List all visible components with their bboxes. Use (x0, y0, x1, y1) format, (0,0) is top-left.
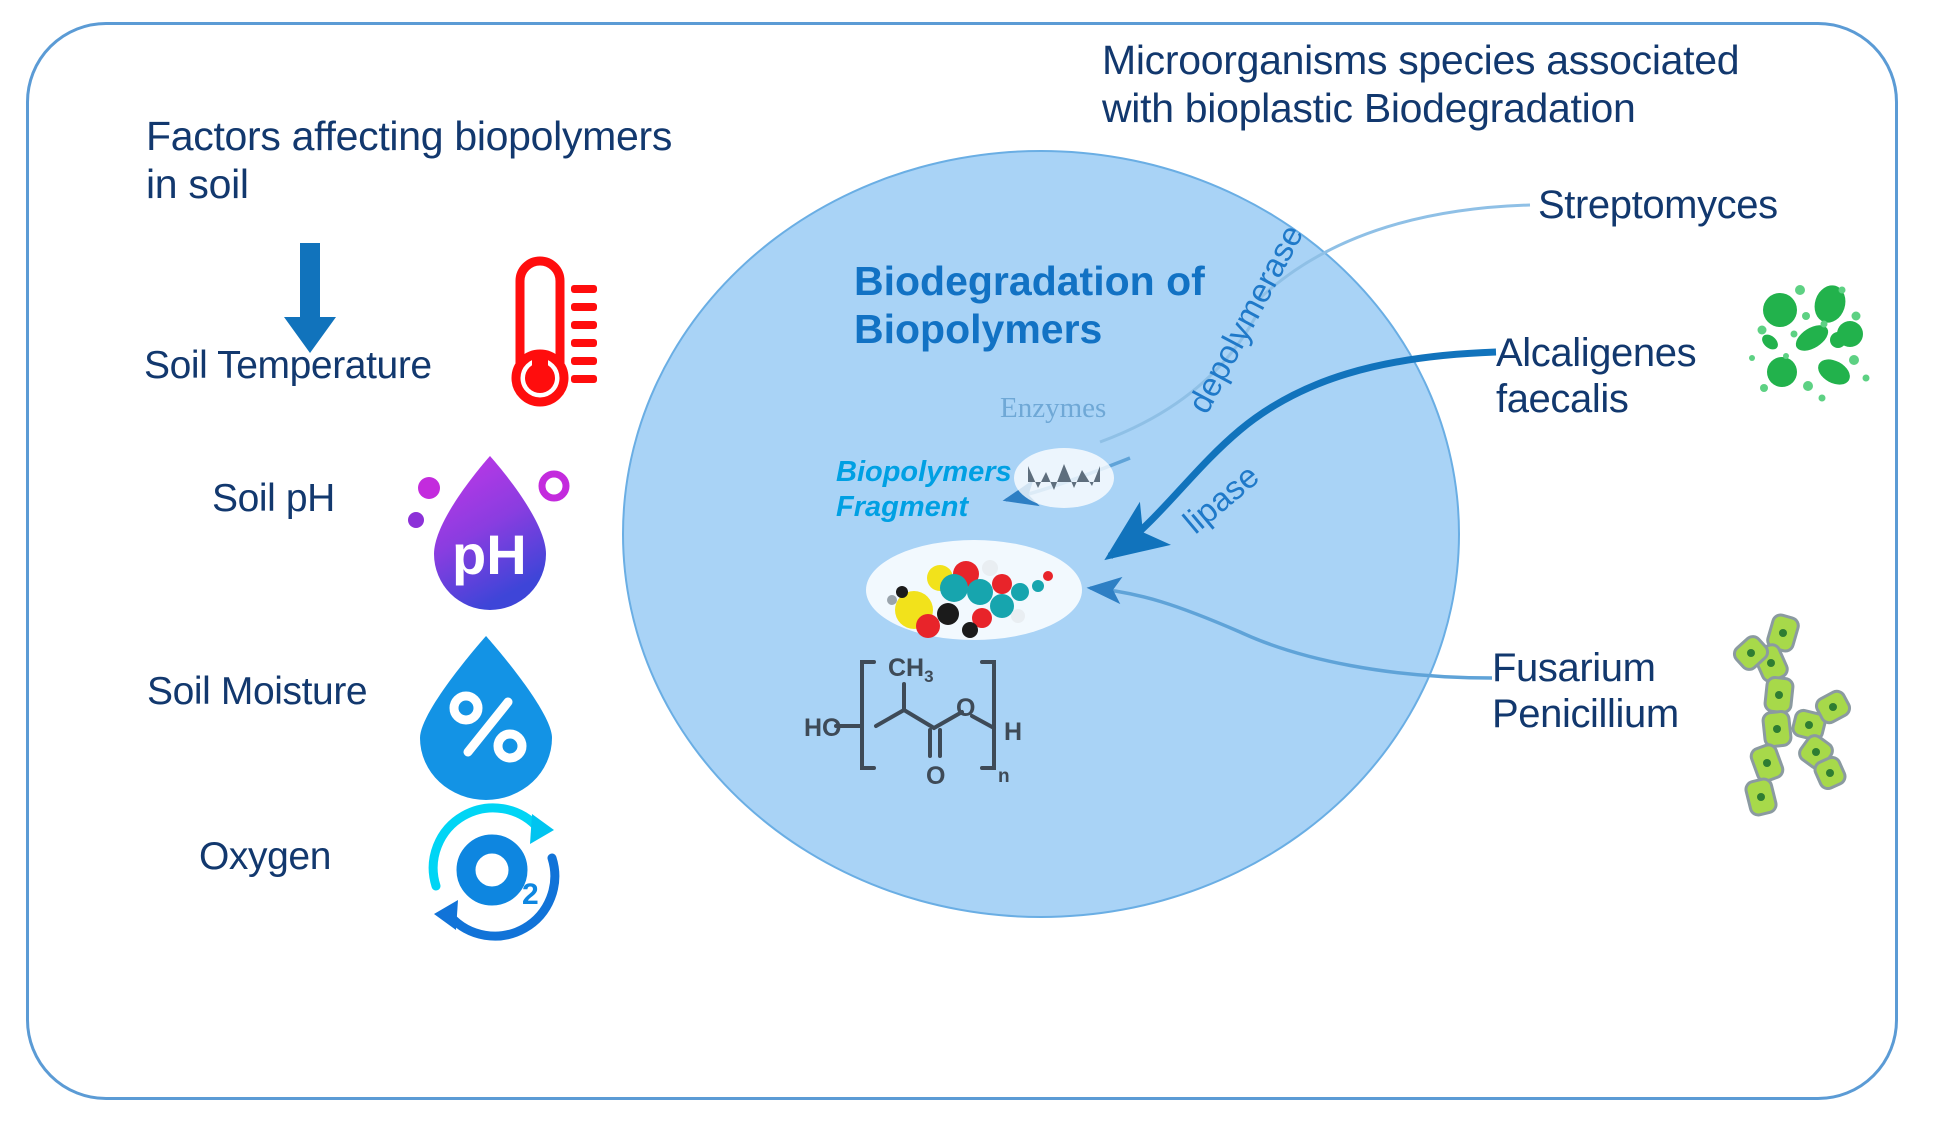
bacteria-colony-icon (1742, 272, 1874, 404)
diagram-canvas: Factors affecting biopolymers in soil Mi… (0, 0, 1935, 1128)
microbe-label-alcaligenes-faecalis: Alcaligenes faecalis (1496, 330, 1696, 423)
pla-ester-oxygen: O (956, 694, 975, 722)
factor-label-oxygen: Oxygen (199, 835, 331, 879)
pla-repeat-subscript: n (998, 766, 1010, 787)
pla-right-group: H (1004, 718, 1022, 746)
microbe-label-streptomyces: Streptomyces (1538, 182, 1778, 228)
thermometer-icon (479, 251, 611, 411)
fungal-hyphae-icon (1712, 608, 1862, 828)
enzymes-label: Enzymes (1000, 392, 1106, 425)
down-arrow-icon (281, 243, 339, 355)
microbe-label-fusarium-penicillium: Fusarium Penicillium (1492, 645, 1679, 738)
oxygen-cycle-icon: 2 (414, 792, 574, 952)
pla-methyl: CH3 (888, 654, 934, 686)
factor-label-soil-ph: Soil pH (212, 477, 335, 521)
polylactic-acid-structure: HO CH3 O O H n (800, 636, 1052, 794)
moisture-drop-percent-icon (412, 630, 560, 800)
pla-left-group: HO (804, 714, 842, 742)
right-heading: Microorganisms species associated with b… (1102, 36, 1862, 133)
ph-drop-text: pH (452, 523, 527, 586)
factor-label-soil-temperature: Soil Temperature (144, 344, 432, 388)
enzyme-squiggle-icon (1012, 442, 1116, 514)
factor-label-soil-moisture: Soil Moisture (147, 670, 367, 714)
ph-drop-icon: pH (394, 444, 580, 624)
oxygen-subscript: 2 (522, 878, 539, 911)
ellipse-title: Biodegradation of Biopolymers (854, 258, 1254, 353)
pla-carbonyl-oxygen: O (926, 762, 945, 790)
biopolymer-fragment-molecule-icon (862, 530, 1086, 646)
